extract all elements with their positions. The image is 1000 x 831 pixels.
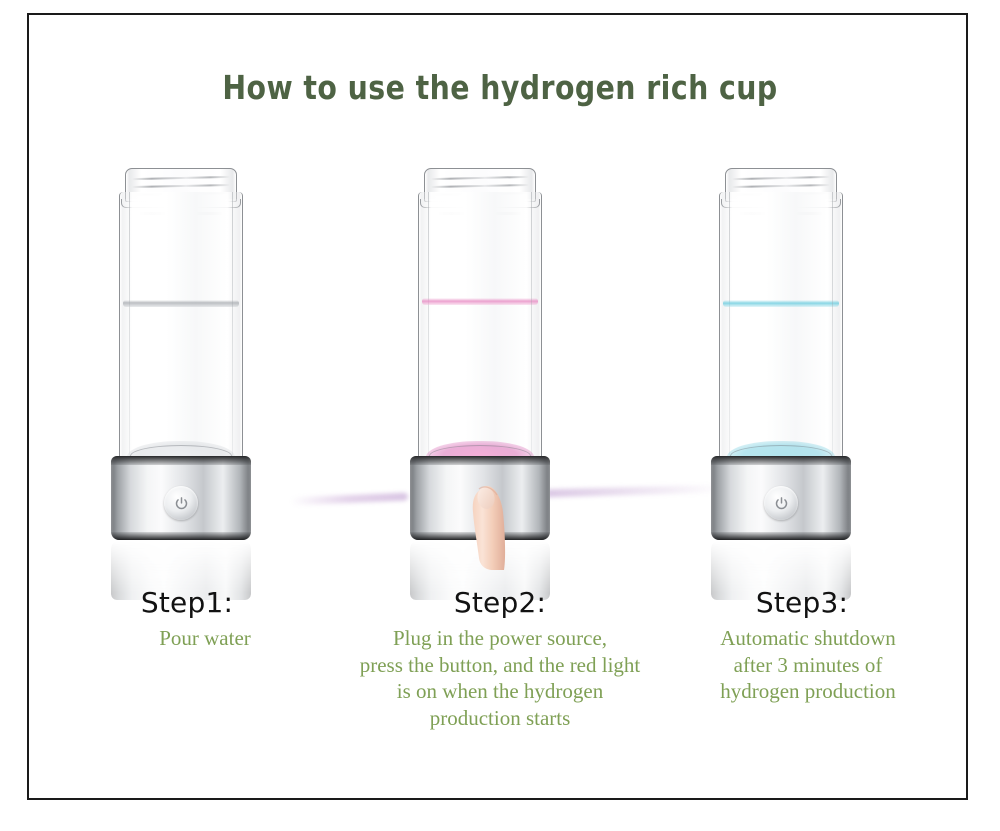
step-description-line: after 3 minutes of [648, 652, 968, 678]
step-description-3: Automatic shutdown after 3 minutes of hy… [648, 625, 968, 704]
base-top-edge [410, 456, 550, 465]
lid-ridge [431, 176, 529, 180]
water-level-line-1 [123, 300, 239, 307]
base-bottom-edge [711, 532, 851, 540]
step-description-line: production starts [310, 705, 690, 731]
step-label-1: Step1: [17, 588, 357, 617]
base-top-edge [111, 456, 251, 465]
step-description-line: Automatic shutdown [648, 625, 968, 651]
infographic-page: How to use the hydrogen rich cup [0, 0, 1000, 831]
cup-glass-body-3 [719, 192, 843, 474]
product-cup-step1 [76, 168, 286, 568]
base-top-edge [711, 456, 851, 465]
step-description-line: is on when the hydrogen [310, 678, 690, 704]
lid-ridge [132, 184, 230, 188]
cup-metal-base-1 [111, 456, 251, 540]
step-description-line: Plug in the power source, [310, 625, 690, 651]
step-description-line: press the button, and the red light [310, 652, 690, 678]
lid-ridge [732, 184, 830, 188]
cup-glass-body-2 [418, 192, 542, 474]
product-cup-step3 [676, 168, 886, 568]
power-icon [774, 496, 789, 511]
step-label-3: Step3: [642, 588, 962, 617]
power-button-1[interactable] [164, 486, 198, 520]
step-description-2: Plug in the power source, press the butt… [310, 625, 690, 731]
step-label-2: Step2: [310, 588, 690, 617]
lid-ridge [431, 184, 529, 188]
lid-ridge [132, 176, 230, 180]
step-description-line: hydrogen production [648, 678, 968, 704]
power-icon [174, 496, 189, 511]
cup-glass-body-1 [119, 192, 243, 474]
finger-pressing-button-icon [466, 478, 510, 570]
water-level-line-2 [422, 298, 538, 305]
power-button-3[interactable] [764, 486, 798, 520]
cup-metal-base-3 [711, 456, 851, 540]
water-level-line-3 [723, 300, 839, 307]
lid-ridge [732, 176, 830, 180]
base-bottom-edge [111, 532, 251, 540]
step-caption-2: Step2: Plug in the power source, press t… [310, 588, 690, 731]
step-caption-3: Step3: Automatic shutdown after 3 minute… [648, 588, 968, 705]
